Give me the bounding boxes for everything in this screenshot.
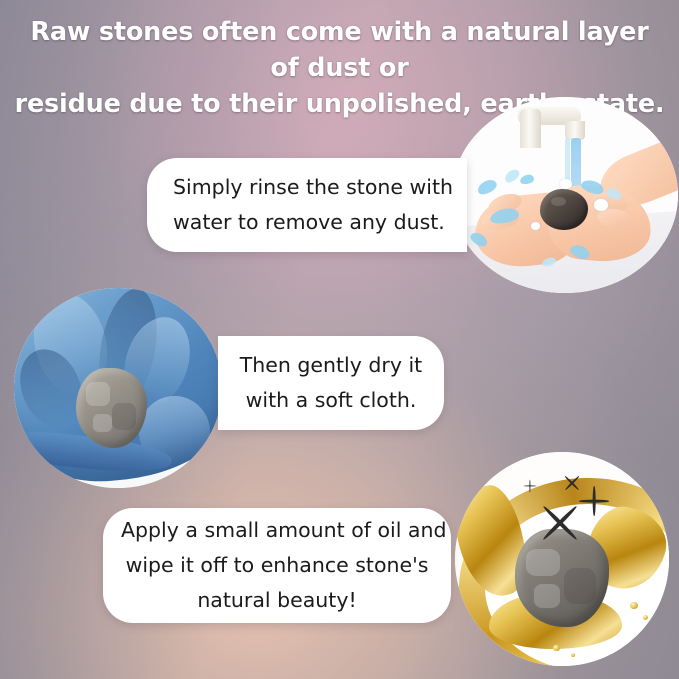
oil-bead-shape bbox=[553, 645, 559, 651]
stone-facet bbox=[526, 549, 560, 577]
stone-facet bbox=[564, 568, 596, 603]
water-droplet-icon bbox=[519, 174, 534, 186]
oil-bead-shape bbox=[630, 602, 637, 609]
faucet-column-shape bbox=[520, 109, 541, 148]
stone-facet bbox=[93, 414, 111, 432]
stone-facet bbox=[112, 403, 136, 430]
stone-facet bbox=[534, 584, 560, 608]
gray-stone-shape bbox=[76, 368, 147, 448]
callout-rinse-line-1: Simply rinse the stone with bbox=[173, 170, 453, 205]
stone-with-oil-image bbox=[455, 452, 669, 666]
callout-oil-line-2: wipe it off to enhance stone's bbox=[121, 548, 433, 583]
callout-dry-line-1: Then gently dry it bbox=[238, 348, 424, 383]
sparkle-icon bbox=[562, 473, 581, 492]
callout-dry: Then gently dry it with a soft cloth. bbox=[218, 336, 444, 430]
callout-oil-line-1: Apply a small amount of oil and bbox=[121, 513, 433, 548]
rinse-stone-under-faucet-image bbox=[452, 97, 678, 293]
water-droplet-icon bbox=[503, 168, 521, 186]
callout-oil: Apply a small amount of oil and wipe it … bbox=[103, 508, 451, 623]
callout-rinse-line-2: water to remove any dust. bbox=[173, 205, 453, 240]
sparkle-icon bbox=[523, 480, 536, 493]
wet-stone-shape bbox=[540, 189, 587, 230]
callout-dry-line-2: with a soft cloth. bbox=[238, 383, 424, 418]
callout-oil-line-3: natural beauty! bbox=[121, 583, 433, 618]
stone-on-blue-cloth-image bbox=[14, 288, 222, 488]
water-droplet-icon bbox=[475, 177, 498, 197]
sparkle-icon bbox=[579, 486, 609, 516]
water-bubble-icon bbox=[594, 199, 608, 211]
callout-rinse: Simply rinse the stone with water to rem… bbox=[147, 158, 467, 252]
page-title-line-1: Raw stones often come with a natural lay… bbox=[14, 14, 665, 86]
sparkle-icon bbox=[536, 499, 583, 546]
water-bubble-icon bbox=[560, 179, 571, 189]
faucet-spout-shape bbox=[565, 121, 585, 141]
infographic-canvas: Raw stones often come with a natural lay… bbox=[0, 0, 679, 679]
stone-facet bbox=[86, 382, 110, 406]
